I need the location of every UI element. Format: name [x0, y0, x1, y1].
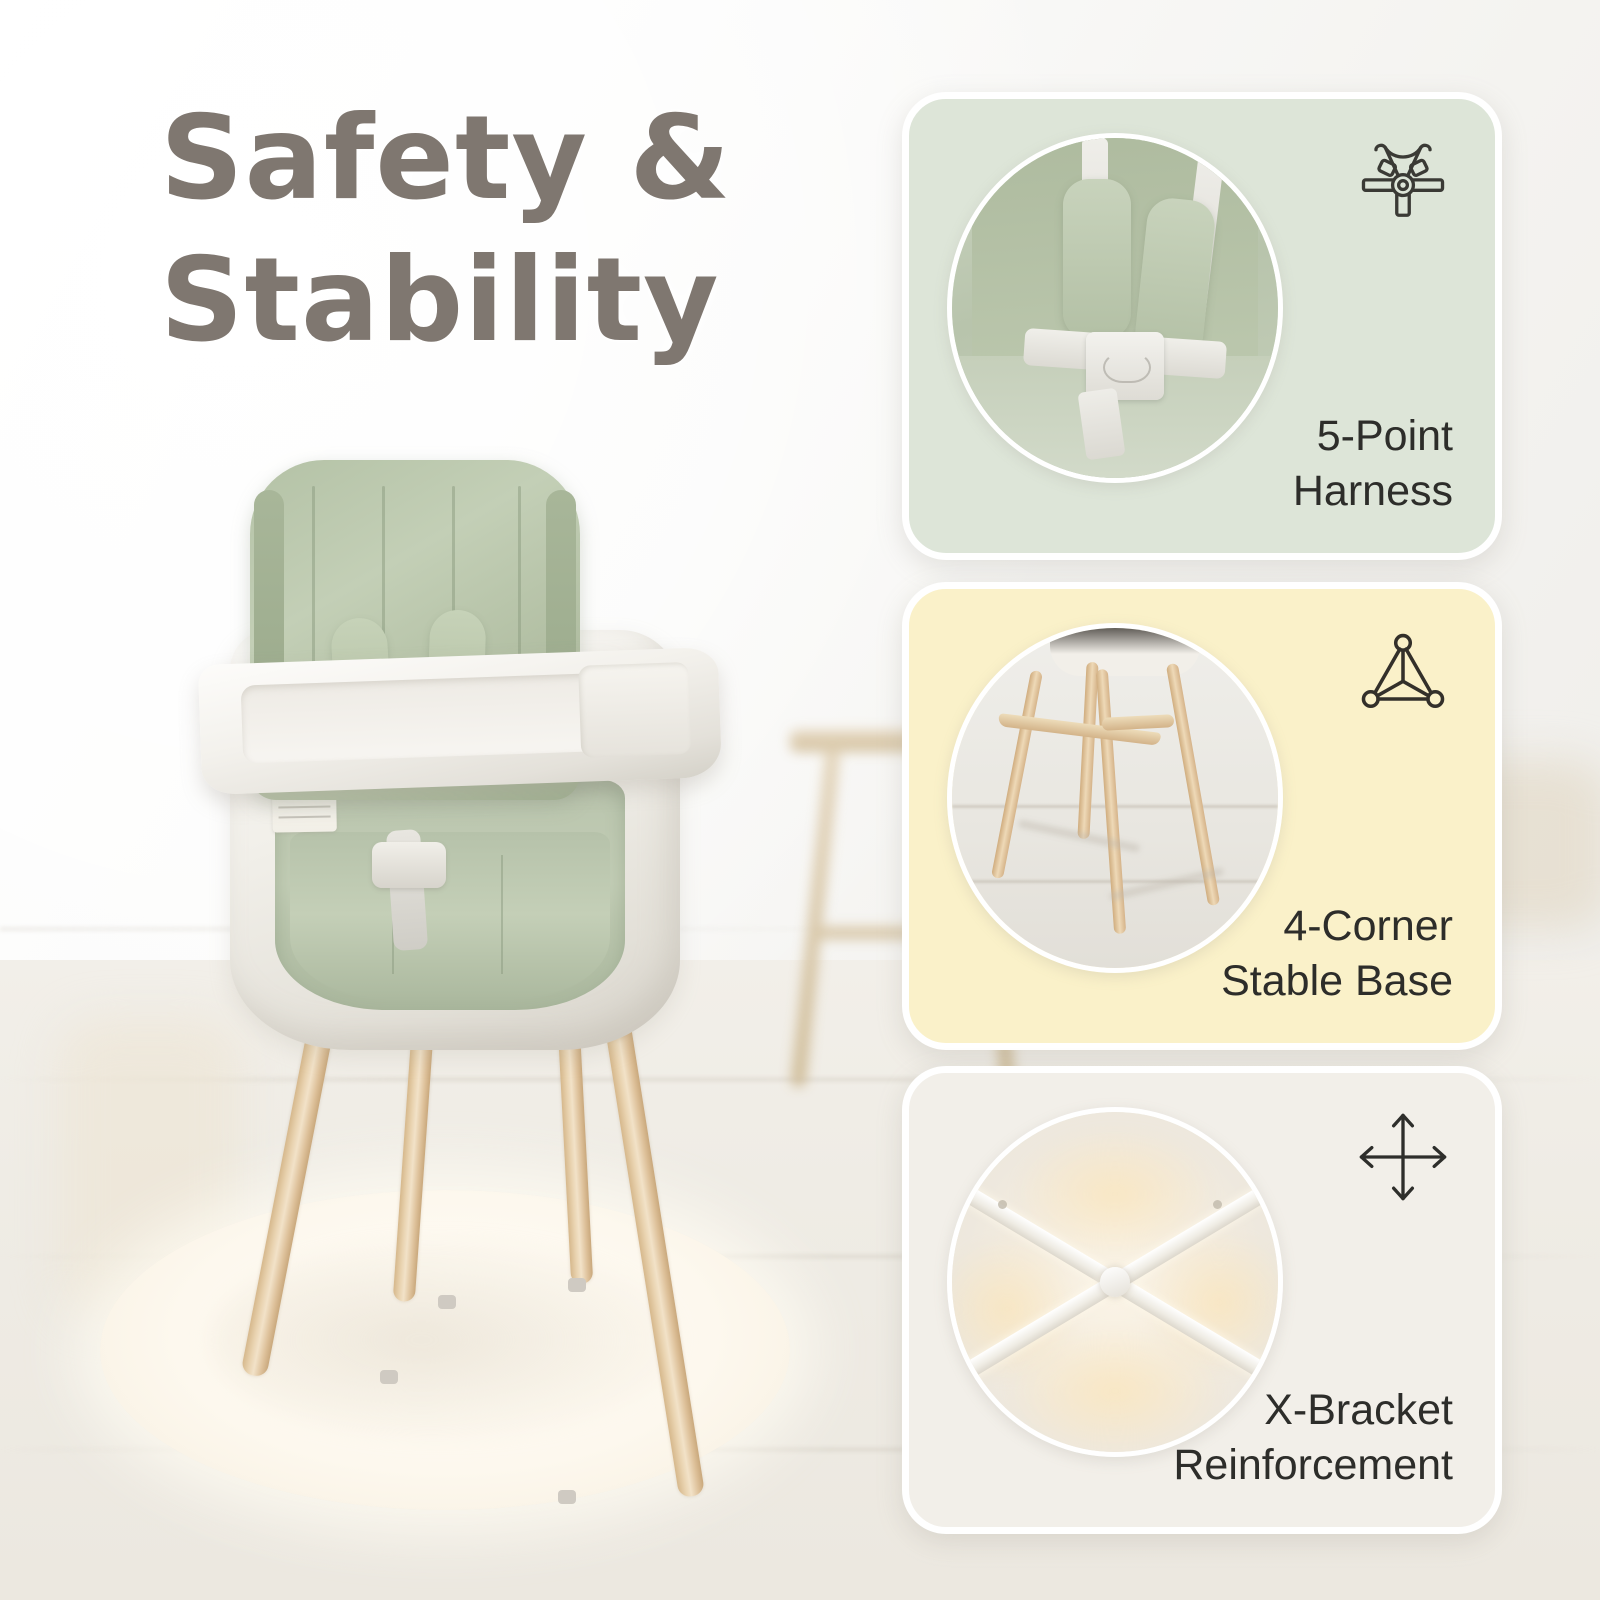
- four-way-arrows-icon: [1351, 1105, 1455, 1209]
- photo-harness-pad-left: [1063, 179, 1131, 339]
- feature-title-harness: 5-Point Harness: [1293, 409, 1453, 519]
- tripod-stability-icon: [1351, 621, 1455, 725]
- feature-card-five-point-harness[interactable]: 5-Point Harness: [902, 92, 1502, 560]
- photo-bracket-center-hub: [1100, 1267, 1130, 1297]
- feature-card-x-bracket-reinforcement[interactable]: X-Bracket Reinforcement: [902, 1066, 1502, 1534]
- chair-foot-cap-4: [558, 1490, 576, 1504]
- harness-buckle: [372, 842, 446, 888]
- seat-cushion-lower: [290, 832, 610, 997]
- photo-bracket-node-1: [998, 1200, 1007, 1209]
- harness-icon: [1351, 131, 1455, 235]
- feature-title-line-1: X-Bracket: [1173, 1383, 1453, 1438]
- tray-cup-holder: [578, 662, 691, 758]
- photo-leg-2: [1078, 662, 1099, 839]
- chair-tray: [198, 647, 722, 795]
- chair-foot-cap-1: [380, 1370, 398, 1384]
- page-title-line-2: Stability: [160, 230, 880, 372]
- feature-photo-harness: [947, 133, 1283, 483]
- chair-foot-cap-2: [438, 1295, 456, 1309]
- warning-label-text-line: [278, 806, 330, 809]
- feature-title-line-2: Harness: [1293, 464, 1453, 519]
- feature-title-line-1: 5-Point: [1293, 409, 1453, 464]
- feature-card-four-corner-stable-base[interactable]: 4-Corner Stable Base: [902, 582, 1502, 1050]
- feature-title-x-bracket: X-Bracket Reinforcement: [1173, 1383, 1453, 1493]
- feature-title-line-1: 4-Corner: [1221, 899, 1453, 954]
- feature-title-line-2: Stable Base: [1221, 954, 1453, 1009]
- warning-label-text-line: [279, 816, 331, 819]
- page-title-line-1: Safety &: [160, 88, 880, 230]
- chair-foot-cap-3: [568, 1278, 586, 1292]
- feature-title-stable-base: 4-Corner Stable Base: [1221, 899, 1453, 1009]
- product-high-chair-image: [90, 450, 830, 1590]
- photo-rung-right: [1102, 715, 1174, 732]
- feature-title-line-2: Reinforcement: [1173, 1438, 1453, 1493]
- page-title: Safety & Stability: [160, 88, 880, 371]
- photo-leg-1: [991, 670, 1043, 879]
